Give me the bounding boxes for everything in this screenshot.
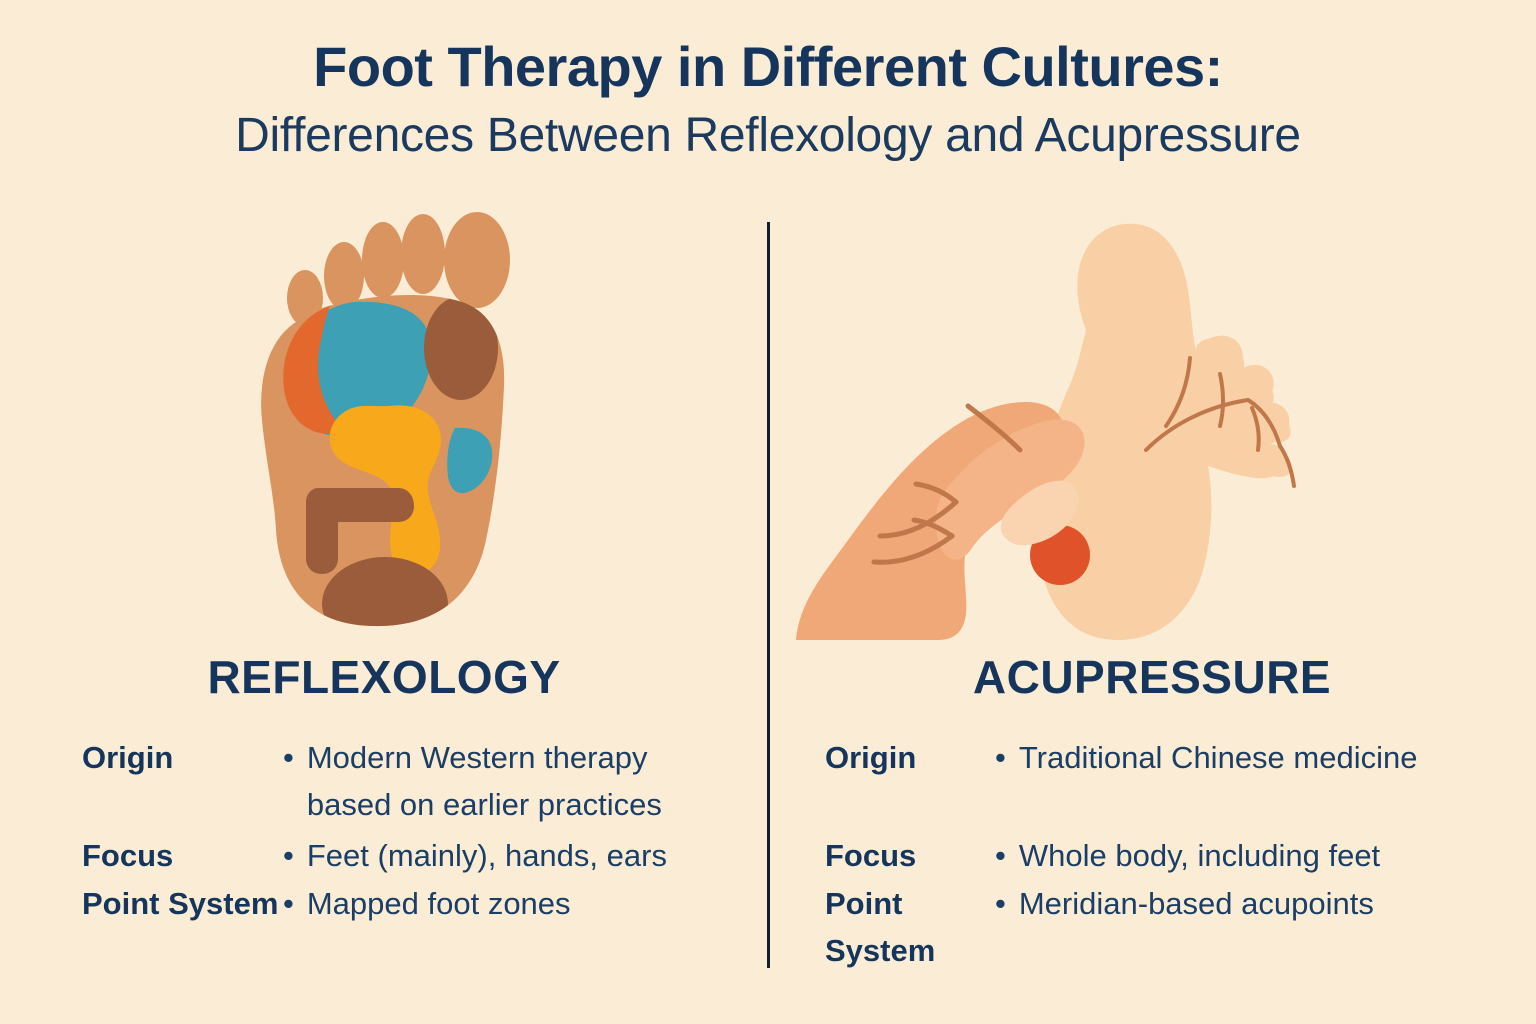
spec-value-origin: Traditional Chinese medicine bbox=[1019, 734, 1418, 781]
infographic-root: Foot Therapy in Different Cultures: Diff… bbox=[0, 0, 1536, 1024]
heading-acupressure: ACUPRESSURE bbox=[768, 650, 1536, 704]
spec-bullet-point-system: • Meridian-based acupoints bbox=[995, 880, 1374, 927]
spec-value-focus: Whole body, including feet bbox=[1019, 832, 1380, 879]
bullet-icon: • bbox=[995, 734, 1006, 781]
spec-value-point-system: Mapped foot zones bbox=[307, 880, 571, 927]
bullet-icon: • bbox=[283, 832, 294, 879]
spec-table-acupressure: Origin • Traditional Chinese medicine Fo… bbox=[768, 734, 1536, 928]
spec-bullet-focus: • Whole body, including feet bbox=[995, 832, 1380, 879]
spec-value-focus: Feet (mainly), hands, ears bbox=[307, 832, 667, 879]
bullet-icon: • bbox=[995, 832, 1006, 879]
zone-brown-head bbox=[424, 296, 498, 400]
spec-row-focus: Focus • Whole body, including feet bbox=[768, 832, 1536, 880]
spec-label-focus: Focus bbox=[82, 832, 282, 879]
spec-bullet-focus: • Feet (mainly), hands, ears bbox=[283, 832, 667, 879]
reflexology-foot-illustration bbox=[0, 210, 768, 640]
spec-row-origin: Origin • Traditional Chinese medicine bbox=[768, 734, 1536, 832]
header: Foot Therapy in Different Cultures: Diff… bbox=[0, 36, 1536, 164]
spec-value-origin: Modern Western therapy based on earlier … bbox=[307, 734, 727, 828]
spec-value-point-system: Meridian-based acupoints bbox=[1019, 880, 1374, 927]
page-subtitle: Differences Between Reflexology and Acup… bbox=[0, 107, 1536, 165]
bullet-icon: • bbox=[995, 880, 1006, 927]
spec-row-point-system: Point System • Mapped foot zones bbox=[0, 880, 768, 928]
spec-label-origin: Origin bbox=[82, 734, 282, 781]
bullet-icon: • bbox=[283, 880, 294, 927]
spec-table-reflexology: Origin • Modern Western therapy based on… bbox=[0, 734, 768, 928]
column-acupressure: ACUPRESSURE Origin • Traditional Chinese… bbox=[768, 210, 1536, 1024]
spec-row-origin: Origin • Modern Western therapy based on… bbox=[0, 734, 768, 832]
spec-bullet-origin: • Traditional Chinese medicine bbox=[995, 734, 1417, 781]
spec-row-focus: Focus • Feet (mainly), hands, ears bbox=[0, 832, 768, 880]
spec-label-point-system: Point System bbox=[82, 880, 282, 927]
spec-bullet-origin: • Modern Western therapy based on earlie… bbox=[283, 734, 733, 828]
hand-graphic bbox=[796, 402, 1085, 640]
bullet-icon: • bbox=[283, 734, 294, 781]
spec-label-origin: Origin bbox=[825, 734, 995, 781]
column-reflexology: REFLEXOLOGY Origin • Modern Western ther… bbox=[0, 210, 768, 1024]
page-title: Foot Therapy in Different Cultures: bbox=[0, 36, 1536, 99]
spec-label-focus: Focus bbox=[825, 832, 995, 879]
acupressure-hand-foot-illustration bbox=[768, 210, 1536, 640]
heading-reflexology: REFLEXOLOGY bbox=[0, 650, 768, 704]
spec-bullet-point-system: • Mapped foot zones bbox=[283, 880, 571, 927]
spec-label-point-system: Point System bbox=[825, 880, 995, 974]
spec-row-point-system: Point System • Meridian-based acupoints bbox=[768, 880, 1536, 928]
